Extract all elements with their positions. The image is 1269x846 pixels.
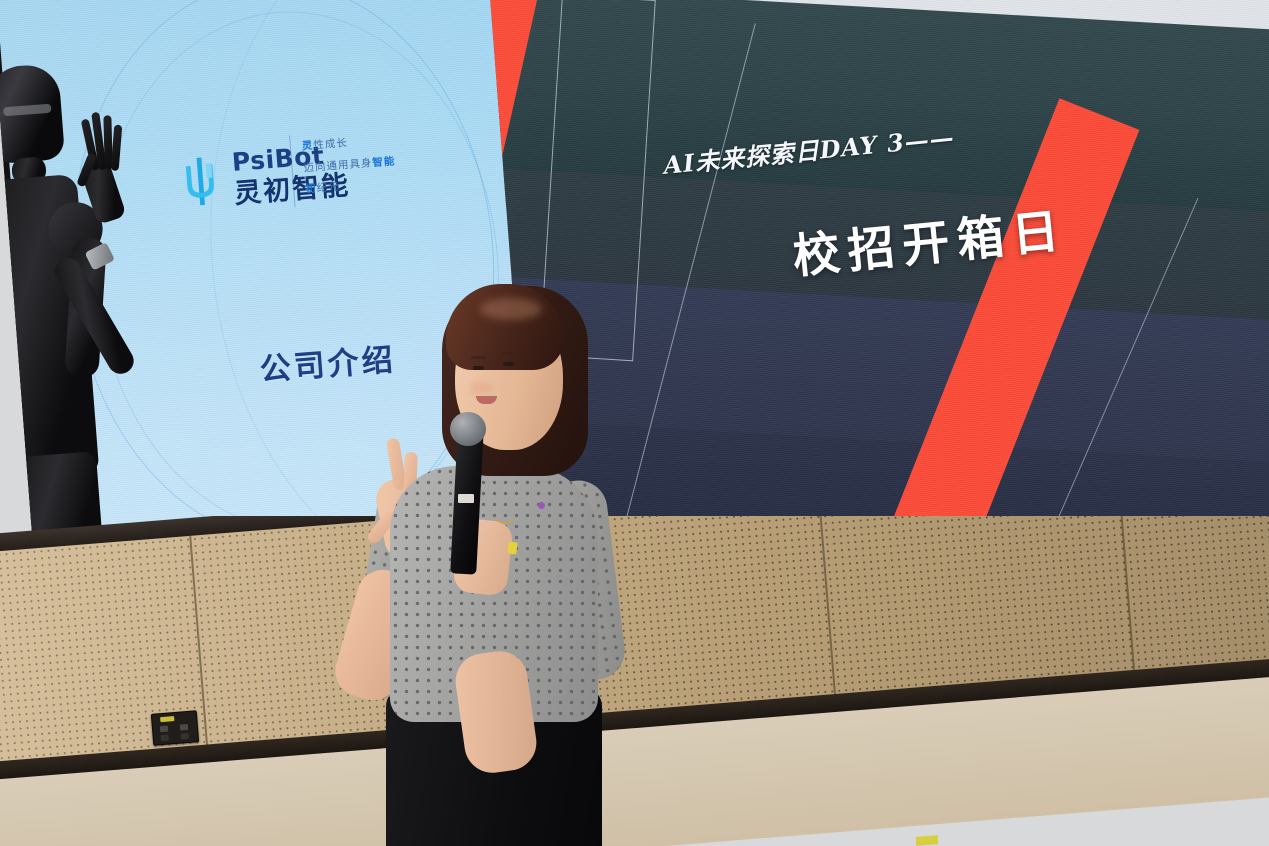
wall-sticker bbox=[916, 835, 939, 846]
presenter-eye bbox=[503, 362, 514, 366]
tagline-highlight: 智能 bbox=[372, 155, 396, 169]
logo-tagline: 灵性成长 迈向通用具身智能 初纪元 bbox=[301, 130, 398, 201]
presenter-eye bbox=[473, 366, 484, 370]
presenter-cheek bbox=[470, 382, 492, 394]
tagline-highlight: 灵 bbox=[301, 140, 313, 153]
wall-plate-label bbox=[160, 716, 174, 722]
presenter bbox=[330, 270, 690, 846]
wall-plate-port[interactable] bbox=[180, 724, 188, 731]
tagline-highlight: 初 bbox=[305, 183, 317, 196]
presenter-hair-highlight bbox=[480, 298, 542, 320]
microphone-label bbox=[458, 494, 474, 503]
av-wall-plate[interactable] bbox=[151, 710, 199, 746]
presentation-screenshot: PsiBot 灵初智能 灵性成长 迈向通用具身智能 初纪元 bbox=[0, 0, 1269, 846]
presenter-eyebrow bbox=[502, 352, 517, 355]
wall-plate-port[interactable] bbox=[161, 735, 169, 742]
presenter-badge bbox=[507, 541, 518, 554]
wall-plate-port[interactable] bbox=[180, 733, 188, 740]
wall-plate-port[interactable] bbox=[160, 726, 168, 733]
microphone-head-icon bbox=[450, 412, 486, 446]
psi-logo-icon bbox=[179, 154, 221, 209]
tagline-text: 性成长 bbox=[313, 137, 348, 152]
tagline-text: 迈向通用具身 bbox=[303, 157, 373, 174]
presenter-pin bbox=[538, 502, 545, 509]
presenter-eyebrow bbox=[471, 356, 486, 359]
tagline-text: 纪元 bbox=[316, 181, 340, 195]
